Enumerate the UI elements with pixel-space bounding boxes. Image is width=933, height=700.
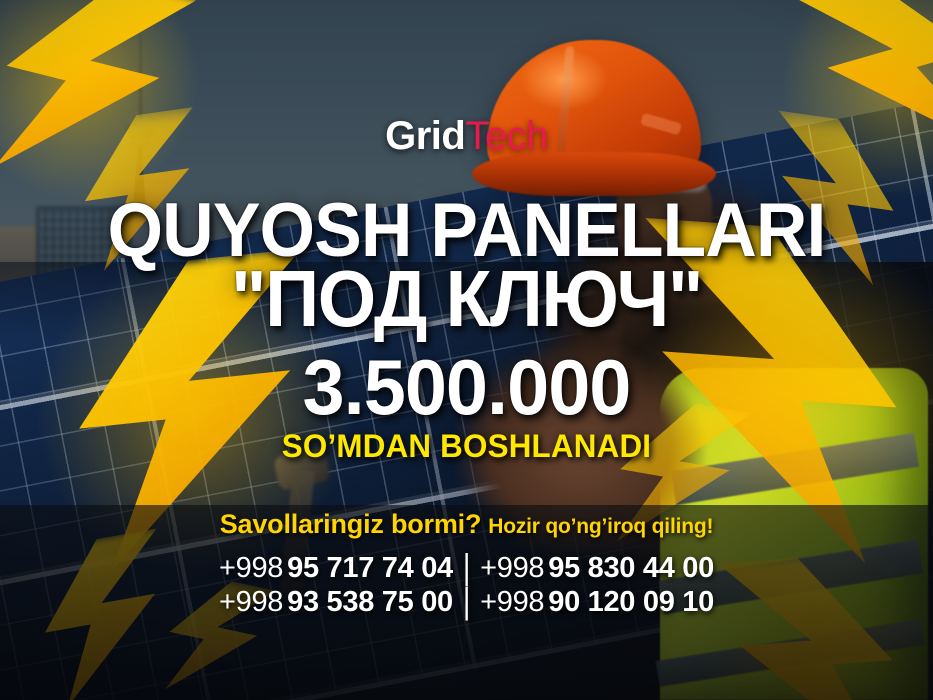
phone-number[interactable]: +99890 120 09 10 <box>480 586 714 618</box>
phone-number-list: +99895 717 74 04|+99895 830 44 00 +99893… <box>0 551 933 619</box>
phone-digits: 95 830 44 00 <box>548 552 714 584</box>
phone-number[interactable]: +99895 830 44 00 <box>480 552 714 584</box>
phone-digits: 90 120 09 10 <box>548 586 714 618</box>
brand-logo: GridTech <box>0 116 933 156</box>
cta-question: Savollaringiz bormi? <box>220 509 482 539</box>
price-caption: SO’MDAN BOSHLANADI <box>9 428 923 465</box>
phone-number[interactable]: +99895 717 74 04 <box>219 552 453 584</box>
phone-separator: | <box>463 581 470 624</box>
phone-row: +99893 538 75 00|+99890 120 09 10 <box>0 585 933 619</box>
phone-digits: 93 538 75 00 <box>287 586 453 618</box>
phone-digits: 95 717 74 04 <box>287 552 453 584</box>
country-code: +998 <box>480 586 544 618</box>
logo-word-grid: Grid <box>385 114 465 158</box>
price-amount: 3.500.000 <box>14 348 919 426</box>
cta-action: Hozir qo’ng’iroq qiling! <box>488 515 713 538</box>
country-code: +998 <box>219 552 283 584</box>
country-code: +998 <box>480 552 544 584</box>
logo-word-tech: Tech <box>465 114 548 158</box>
headline: QUYOSH PANELLARI "ПОД КЛЮЧ" <box>28 196 905 336</box>
country-code: +998 <box>219 586 283 618</box>
advertisement-banner: GridTech QUYOSH PANELLARI "ПОД КЛЮЧ" 3.5… <box>0 0 933 700</box>
call-to-action: Savollaringiz bormi?Hozir qo’ng’iroq qil… <box>0 509 933 540</box>
phone-number[interactable]: +99893 538 75 00 <box>219 586 453 618</box>
